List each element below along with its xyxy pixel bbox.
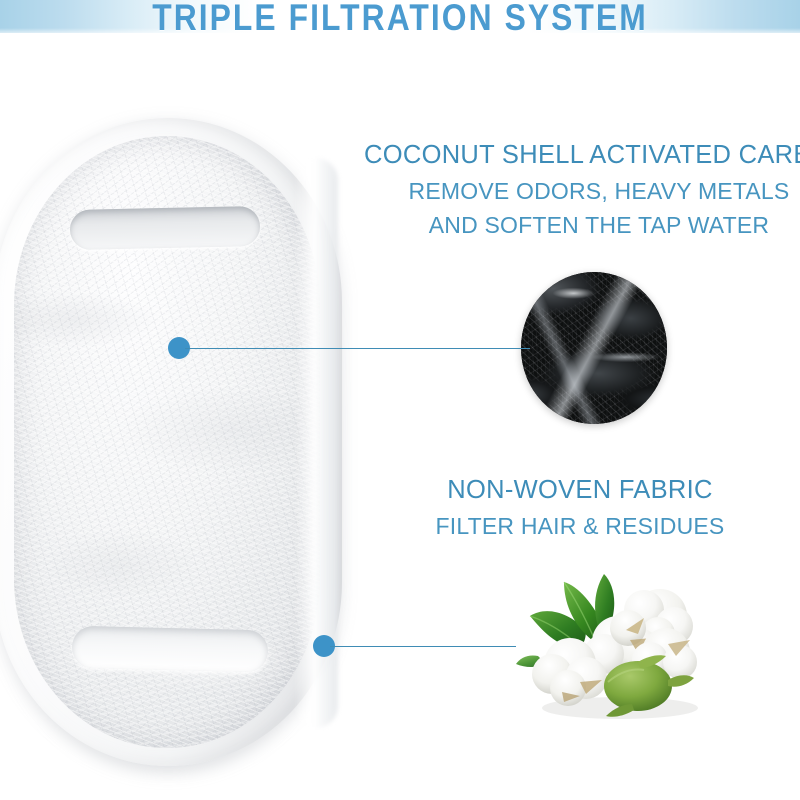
callout-text-fabric: NON-WOVEN FABRIC FILTER HAIR & RESIDUES <box>400 478 760 538</box>
cotton-bolls-image <box>508 568 724 724</box>
activated-carbon-sample-image <box>521 272 667 424</box>
page-title: TRIPLE FILTRATION SYSTEM <box>56 0 744 39</box>
callout-carbon-subline-1: REMOVE ODORS, HEAVY METALS <box>364 180 800 203</box>
callout-fabric-heading: NON-WOVEN FABRIC <box>400 478 760 504</box>
callout-leader-line-carbon <box>185 348 530 349</box>
callout-text-carbon: COCONUT SHELL ACTIVATED CARBON REMOVE OD… <box>364 143 800 237</box>
filter-pad-surface <box>14 136 320 748</box>
callout-fabric-subline-1: FILTER HAIR & RESIDUES <box>400 515 760 538</box>
filter-pad-bottom-slot <box>72 626 269 673</box>
filter-pad-rim <box>0 118 342 766</box>
callout-carbon-heading: COCONUT SHELL ACTIVATED CARBON <box>364 143 800 169</box>
filter-pad-top-slot <box>70 206 261 250</box>
carbon-highlights <box>521 272 667 424</box>
infographic-canvas: TRIPLE FILTRATION SYSTEM <box>0 0 800 800</box>
callout-carbon-subline-2: AND SOFTEN THE TAP WATER <box>364 214 800 237</box>
filter-pad-photo <box>0 118 348 778</box>
cotton-illustration <box>508 568 724 724</box>
callout-leader-line-fabric <box>330 646 516 647</box>
